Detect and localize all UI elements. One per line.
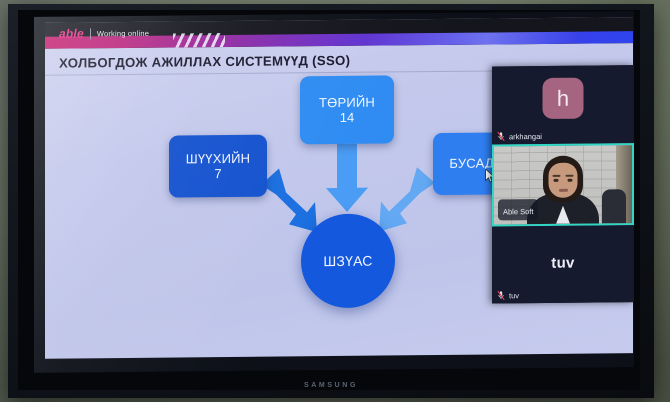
node-label: ШҮҮХИЙН [186, 150, 251, 166]
shirt-collar [556, 206, 570, 224]
participant-nameplate: Able Soft [498, 199, 538, 220]
brand-logo: able Working online [59, 26, 149, 41]
brand-tagline: Working online [97, 28, 149, 38]
person-face [549, 163, 578, 198]
participant-name: Able Soft [503, 207, 533, 216]
arrow-court-to-hub [261, 168, 317, 233]
node-count: 7 [214, 166, 221, 181]
eye-right [568, 179, 573, 182]
participant-nameplate: tuv [497, 290, 519, 300]
header-slash-decoration [173, 33, 225, 47]
diagram-hub[interactable]: ШЗҮАС [301, 213, 395, 308]
eyebrow-left [553, 175, 561, 177]
zoom-participant-panel: h arkhangai [492, 65, 634, 303]
participant-name: tuv [509, 291, 519, 300]
participant-name: arkhangai [509, 132, 542, 141]
arrow-state-to-hub [326, 144, 368, 212]
node-label: ТӨРИЙН [319, 94, 375, 110]
microphone-muted-icon [497, 131, 505, 141]
diagram-node-state[interactable]: ТӨРИЙН 14 [300, 75, 394, 144]
brand-name: able [59, 26, 84, 40]
mouth [559, 189, 568, 192]
participant-nameplate: arkhangai [497, 131, 542, 141]
eyebrow-right [566, 175, 574, 177]
brand-badge: SAMSUNG [304, 382, 358, 389]
arrow-other-to-hub [379, 167, 435, 232]
slide-header: able Working online [45, 17, 633, 49]
hub-label: ШЗҮАС [323, 252, 372, 269]
participant-display-name: tuv [492, 253, 634, 271]
diagram-node-court[interactable]: ШҮҮХИЙН 7 [169, 135, 267, 198]
participant-tile-tuv[interactable]: tuv tuv [492, 225, 634, 303]
node-count: 14 [340, 110, 354, 125]
photo-scene: able Working online ХОЛБОГДОЖ АЖИЛЛАХ СИ… [0, 0, 670, 402]
microphone-muted-icon [497, 290, 505, 300]
participant-tile-arkhangai[interactable]: h arkhangai [492, 65, 634, 144]
page-title: ХОЛБОГДОЖ АЖИЛЛАХ СИСТЕМҮҮД (SSO) [59, 53, 350, 71]
office-chair [602, 189, 626, 223]
screen-content: able Working online ХОЛБОГДОЖ АЖИЛЛАХ СИ… [34, 11, 634, 373]
eye-left [554, 179, 559, 182]
participant-tile-ablesoft[interactable]: Able Soft [492, 143, 634, 226]
avatar: h [543, 78, 584, 119]
logo-separator [90, 28, 91, 39]
television-body: able Working online ХОЛБОГДОЖ АЖИЛЛАХ СИ… [8, 4, 654, 398]
